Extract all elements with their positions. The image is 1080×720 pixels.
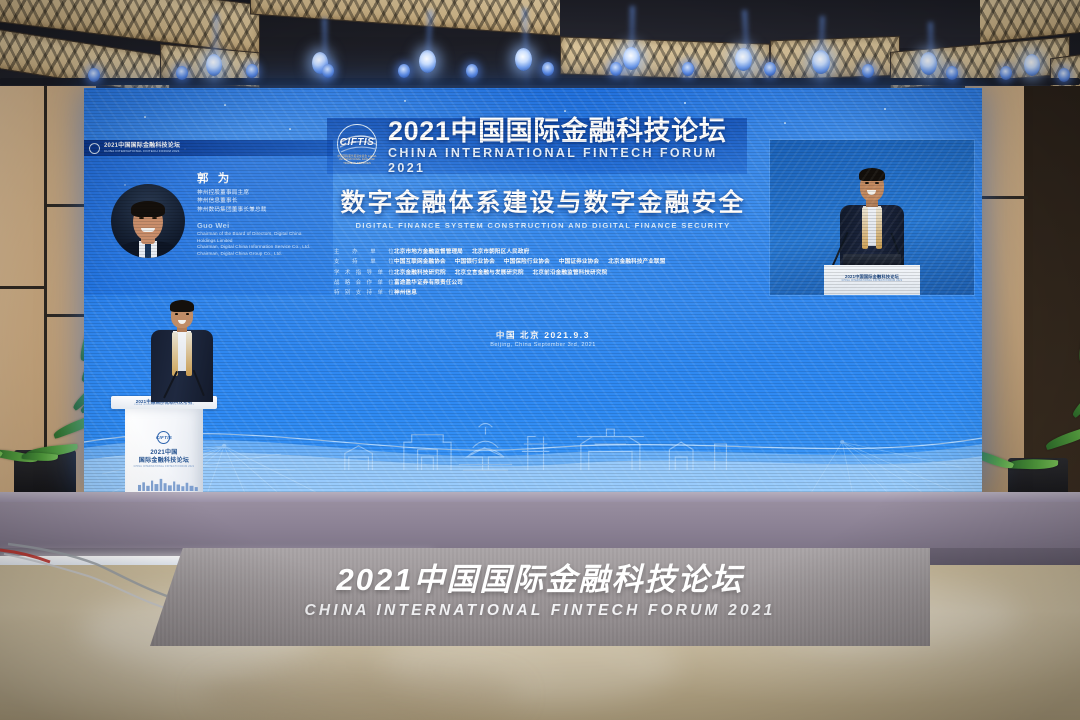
credit-row: 特别支持单位 神州信息 — [334, 289, 764, 297]
speaker-role-cn-1: 神州控股董事局主席 — [197, 189, 327, 197]
credit-row: 战略合作单位 富途盈华证券有限责任公司 — [334, 279, 764, 287]
blue-stage-spotlights — [419, 50, 436, 73]
blue-stage-spotlights — [682, 62, 694, 76]
credit-values: 富途盈华证券有限责任公司 — [394, 279, 472, 287]
screen-title-en: CHINA INTERNATIONAL FINTECH FORUM 2021 — [388, 146, 739, 176]
credit-value: 北京金融科技产业联盟 — [608, 259, 665, 265]
credit-values: 北京市地方金融监督管理局北京市朝阳区人民政府 — [394, 248, 538, 256]
conference-stage-scene: CIFTIS 中国国际服务贸易交易会 CHINA INTERNATIONAL F… — [0, 0, 1080, 720]
organizer-credits: 主办单位 北京市地方金融监督管理局北京市朝阳区人民政府 支持单位 中国互联网金融… — [334, 248, 764, 299]
credit-value: 北京市地方金融监督管理局 — [394, 249, 463, 255]
credit-label: 主办单位 — [334, 248, 394, 256]
credit-values: 神州信息 — [394, 289, 426, 297]
event-date-cn: 中国 北京 2021.9.3 — [327, 330, 759, 341]
speaker-card-header-en: CHINA INTERNATIONAL FINTECH FORUM 2021 — [104, 149, 180, 153]
credit-label: 支持单位 — [334, 258, 394, 266]
ciftis-globe-icon — [89, 143, 100, 154]
blue-stage-spotlights — [920, 52, 937, 75]
speaker-portrait-avatar — [111, 184, 185, 258]
podium-logo-word: CIFTIS — [149, 435, 179, 440]
blue-stage-spotlights — [1058, 68, 1070, 82]
blue-stage-spotlights — [246, 64, 258, 78]
speaker-role-en-4: Chairman, Digital China Group Co., Ltd. — [197, 251, 327, 258]
video-podium: 2021中国国际金融科技论坛 CHINA INTERNATIONAL FINTE… — [824, 265, 920, 295]
theme-cn: 数字金融体系建设与数字金融安全 — [327, 188, 759, 218]
blue-stage-spotlights — [1000, 66, 1012, 80]
blue-stage-spotlights — [1024, 54, 1040, 76]
credit-value: 北京金融科技研究院 — [394, 270, 446, 276]
podium-front-en: CHINA INTERNATIONAL FINTECH FORUM 2021 — [125, 466, 203, 468]
blue-stage-spotlights — [515, 48, 532, 71]
credit-label: 战略合作单位 — [334, 279, 394, 287]
presenter-at-podium — [143, 302, 221, 402]
wave-ribbon — [84, 404, 982, 492]
credit-label: 特别支持单位 — [334, 289, 394, 297]
speaker-role-cn-3: 神州数码集团董事长兼总裁 — [197, 206, 327, 214]
forum-theme: 数字金融体系建设与数字金融安全 DIGITAL FINANCE SYSTEM C… — [327, 188, 759, 232]
credit-row: 支持单位 中国互联网金融协会中国银行业协会中国保险行业协会中国证券业协会北京金融… — [334, 258, 764, 266]
podium-front-cn-line2: 国际金融科技论坛 — [125, 457, 203, 465]
podium-front-cn-line1: 2021中国 — [125, 449, 203, 457]
blue-stage-spotlights — [862, 64, 874, 78]
video-podium-text-en: CHINA INTERNATIONAL FINTECH FORUM 2021 — [824, 280, 920, 282]
speaker-card-header: 2021中国国际金融科技论坛 CHINA INTERNATIONAL FINTE… — [84, 140, 333, 156]
credit-label: 学术指导单位 — [334, 269, 394, 277]
credit-value: 中国保险行业协会 — [504, 259, 550, 265]
credit-value: 富途盈华证券有限责任公司 — [394, 280, 463, 286]
event-date: 中国 北京 2021.9.3 Beijing, China September … — [327, 330, 759, 350]
blue-stage-spotlights — [206, 54, 222, 76]
credit-value: 北京立言金融与发展研究院 — [455, 270, 524, 276]
speaker-name-cn: 郭 为 — [197, 172, 327, 186]
potted-palm-plant — [1000, 340, 1080, 505]
theme-en: DIGITAL FINANCE SYSTEM CONSTRUCTION AND … — [327, 220, 759, 232]
credit-values: 北京金融科技研究院北京立言金融与发展研究院北京前沿金融监管科技研究院 — [394, 269, 616, 277]
event-date-en: Beijing, China September 3rd, 2021 — [327, 341, 759, 350]
podium-top-sign-en: CHINA INTERNATIONAL FINTECH FORUM 2021 — [111, 404, 217, 406]
blue-stage-spotlights — [946, 66, 958, 80]
blue-stage-spotlights — [322, 64, 334, 78]
led-stage-screen: CIFTIS 中国国际服务贸易交易会 CHINA INTERNATIONAL F… — [84, 88, 982, 492]
blue-stage-spotlights — [735, 48, 752, 71]
speaker-role-en-3: Chairman, Digital China Information Serv… — [197, 244, 327, 251]
blue-stage-spotlights — [623, 47, 640, 70]
beijing-landmarks-skyline — [125, 478, 212, 491]
speaker-details: 郭 为 神州控股董事局主席 神州信息董事长 神州数码集团董事长兼总裁 Guo W… — [197, 172, 327, 258]
video-podium-text-cn: 2021中国国际金融科技论坛 — [824, 274, 920, 280]
screen-title-cn: 2021中国国际金融科技论坛 — [388, 117, 739, 146]
stage-deck-edge — [0, 492, 1080, 502]
podium-front-cn: 2021中国 国际金融科技论坛 — [125, 449, 203, 465]
banner-title-cn: 2021中国国际金融科技论坛 — [150, 562, 930, 598]
blue-stage-spotlights — [176, 66, 188, 80]
credit-value: 神州信息 — [394, 290, 417, 296]
blue-stage-spotlights — [466, 64, 478, 78]
blue-stage-spotlights — [88, 68, 100, 82]
speaker-info-card: 2021中国国际金融科技论坛 CHINA INTERNATIONAL FINTE… — [84, 140, 333, 295]
speaker-role-en-2: Holdings Limited — [197, 238, 327, 245]
credit-values: 中国互联网金融协会中国银行业协会中国保险行业协会中国证券业协会北京金融科技产业联… — [394, 258, 675, 266]
credit-value: 中国互联网金融协会 — [394, 259, 446, 265]
blue-stage-spotlights — [542, 62, 554, 76]
ciftis-logo-subtext: 中国国际服务贸易交易会 CHINA INTERNATIONAL FAIR FOR… — [335, 155, 379, 165]
ceiling — [0, 0, 1080, 96]
blue-stage-spotlights — [398, 64, 410, 78]
credit-value: 北京前沿金融监管科技研究院 — [533, 270, 608, 276]
blue-stage-spotlights — [610, 62, 622, 76]
credit-row: 主办单位 北京市地方金融监督管理局北京市朝阳区人民政府 — [334, 248, 764, 256]
blue-stage-spotlights — [812, 50, 830, 74]
potted-palm-plant — [0, 330, 96, 500]
stage-front-banner: 2021中国国际金融科技论坛 CHINA INTERNATIONAL FINTE… — [150, 548, 930, 646]
banner-title-en: CHINA INTERNATIONAL FINTECH FORUM 2021 — [150, 601, 930, 620]
woven-gold-ceiling-panels — [770, 36, 900, 81]
credit-value: 中国银行业协会 — [455, 259, 495, 265]
speaker-role-en-1: Chairman of the Board of Directors, Digi… — [197, 231, 327, 238]
live-speaker-video-feed: 2021中国国际金融科技论坛 CHINA INTERNATIONAL FINTE… — [770, 140, 974, 295]
ciftis-globe-icon: CIFTIS — [149, 431, 179, 444]
speaker-role-cn-2: 神州信息董事长 — [197, 197, 327, 205]
blue-stage-spotlights — [764, 62, 776, 76]
speaker-name-en: Guo Wei — [197, 221, 327, 231]
credit-row: 学术指导单位 北京金融科技研究院北京立言金融与发展研究院北京前沿金融监管科技研究… — [334, 269, 764, 277]
ciftis-globe-icon: CIFTIS 中国国际服务贸易交易会 CHINA INTERNATIONAL F… — [335, 124, 379, 168]
screen-header-title-bar: CIFTIS 中国国际服务贸易交易会 CHINA INTERNATIONAL F… — [327, 118, 747, 174]
credit-value: 中国证券业协会 — [559, 259, 599, 265]
podium-body: CIFTIS 2021中国 国际金融科技论坛 CHINA INTERNATION… — [125, 409, 203, 501]
ciftis-logo-word: CIFTIS — [338, 137, 376, 148]
credit-value: 北京市朝阳区人民政府 — [472, 249, 529, 255]
